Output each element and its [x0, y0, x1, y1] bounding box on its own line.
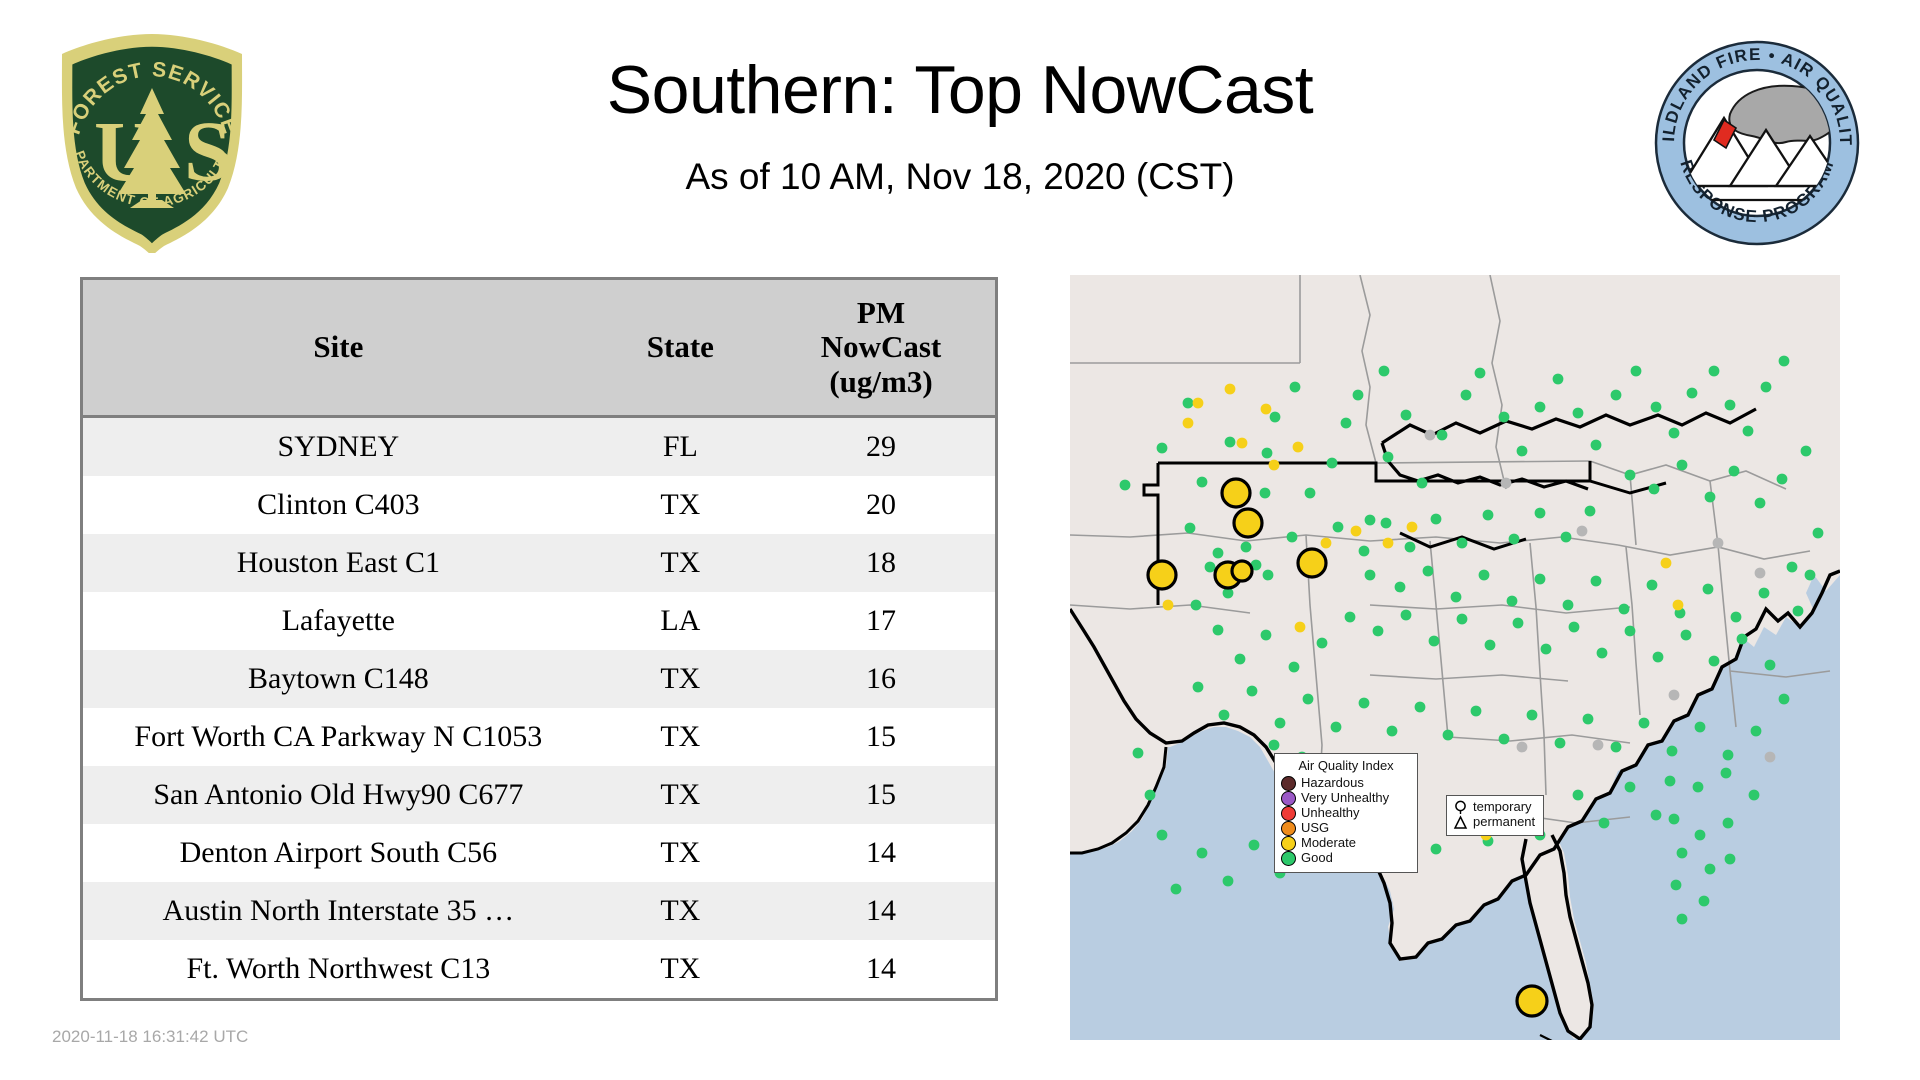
- monitor-dot-good[interactable]: [1437, 430, 1448, 441]
- pm-value-cell: 15: [767, 708, 995, 766]
- state-cell: TX: [594, 476, 767, 534]
- page-subtitle: As of 10 AM, Nov 18, 2020 (CST): [300, 156, 1620, 198]
- monitor-dot-good[interactable]: [1303, 694, 1314, 705]
- aqi-legend-item: Unhealthy: [1281, 806, 1411, 821]
- monitor-dot-good[interactable]: [1651, 402, 1662, 413]
- pm-value-cell: 20: [767, 476, 995, 534]
- table-body: SYDNEYFL29Clinton C403TX20Houston East C…: [83, 417, 995, 999]
- monitor-dot-moderate[interactable]: [1295, 622, 1306, 633]
- site-type-permanent: permanent: [1453, 815, 1535, 830]
- aqi-color-swatch-icon: [1281, 821, 1296, 836]
- aqi-color-swatch-icon: [1281, 836, 1296, 851]
- monitor-dot-good[interactable]: [1705, 864, 1716, 875]
- monitor-dot-good[interactable]: [1765, 660, 1776, 671]
- monitor-dot-good[interactable]: [1471, 706, 1482, 717]
- monitor-dot-good[interactable]: [1269, 740, 1280, 751]
- page-title: Southern: Top NowCast: [300, 55, 1620, 126]
- monitor-dot-moderate[interactable]: [1261, 404, 1272, 415]
- site-type-legend: temporary permanent: [1446, 795, 1544, 836]
- aqi-legend-label: USG: [1301, 821, 1329, 836]
- monitor-dot-good[interactable]: [1625, 626, 1636, 637]
- monitor-dot-good[interactable]: [1535, 402, 1546, 413]
- monitor-dot-good[interactable]: [1509, 534, 1520, 545]
- monitor-dot-good[interactable]: [1729, 466, 1740, 477]
- monitor-dot-good[interactable]: [1262, 448, 1273, 459]
- monitor-dot-good[interactable]: [1649, 484, 1660, 495]
- monitor-dot-offline[interactable]: [1593, 740, 1604, 751]
- monitor-dot-good[interactable]: [1461, 390, 1472, 401]
- monitor-dot-highlighted[interactable]: [1232, 561, 1252, 581]
- table-row: San Antonio Old Hwy90 C677TX15: [83, 766, 995, 824]
- monitor-dot-good[interactable]: [1787, 562, 1798, 573]
- usfs-letter-s: S: [184, 103, 232, 199]
- state-cell: TX: [594, 766, 767, 824]
- monitor-dot-good[interactable]: [1483, 510, 1494, 521]
- monitor-dot-good[interactable]: [1157, 443, 1168, 454]
- monitor-dot-good[interactable]: [1213, 548, 1224, 559]
- monitor-dot-good[interactable]: [1709, 656, 1720, 667]
- permanent-triangle-icon: [1453, 815, 1468, 830]
- monitor-dot-good[interactable]: [1535, 574, 1546, 585]
- monitor-dot-good[interactable]: [1263, 570, 1274, 581]
- site-cell: Houston East C1: [83, 534, 594, 592]
- table-row: Ft. Worth Northwest C13TX14: [83, 940, 995, 998]
- monitor-dot-good[interactable]: [1625, 470, 1636, 481]
- monitor-dot-good[interactable]: [1573, 790, 1584, 801]
- monitor-dot-good[interactable]: [1423, 566, 1434, 577]
- monitor-dot-highlighted[interactable]: [1298, 549, 1326, 577]
- monitor-dot-good[interactable]: [1749, 790, 1760, 801]
- site-cell: Clinton C403: [83, 476, 594, 534]
- monitor-dot-good[interactable]: [1695, 830, 1706, 841]
- aqi-legend-label: Moderate: [1301, 836, 1356, 851]
- monitor-dot-offline[interactable]: [1517, 742, 1528, 753]
- monitor-dot-good[interactable]: [1653, 652, 1664, 663]
- monitor-dot-moderate[interactable]: [1661, 558, 1672, 569]
- monitor-dot-good[interactable]: [1457, 538, 1468, 549]
- site-type-permanent-label: permanent: [1473, 815, 1535, 829]
- site-cell: SYDNEY: [83, 417, 594, 477]
- monitor-dot-moderate[interactable]: [1237, 438, 1248, 449]
- aqi-legend-item: Moderate: [1281, 836, 1411, 851]
- monitor-dot-good[interactable]: [1751, 726, 1762, 737]
- monitor-dot-moderate[interactable]: [1383, 538, 1394, 549]
- monitor-dot-good[interactable]: [1235, 654, 1246, 665]
- monitor-dot-good[interactable]: [1721, 768, 1732, 779]
- monitor-dot-good[interactable]: [1563, 600, 1574, 611]
- table-row: LafayetteLA17: [83, 592, 995, 650]
- monitor-dot-good[interactable]: [1507, 596, 1518, 607]
- monitor-dot-highlighted[interactable]: [1517, 986, 1547, 1016]
- monitor-dot-good[interactable]: [1401, 610, 1412, 621]
- aqi-legend-label: Very Unhealthy: [1301, 791, 1389, 806]
- table-row: SYDNEYFL29: [83, 417, 995, 477]
- monitor-dot-good[interactable]: [1677, 914, 1688, 925]
- monitor-dot-good[interactable]: [1401, 410, 1412, 421]
- table-row: Houston East C1TX18: [83, 534, 995, 592]
- monitor-dot-good[interactable]: [1723, 818, 1734, 829]
- title-block: Southern: Top NowCast As of 10 AM, Nov 1…: [300, 55, 1620, 198]
- monitor-dot-good[interactable]: [1793, 606, 1804, 617]
- state-cell: LA: [594, 592, 767, 650]
- monitor-dot-good[interactable]: [1611, 390, 1622, 401]
- site-type-temporary: temporary: [1453, 800, 1535, 815]
- site-cell: Austin North Interstate 35 …: [83, 882, 594, 940]
- monitor-dot-good[interactable]: [1341, 418, 1352, 429]
- state-cell: TX: [594, 708, 767, 766]
- monitor-dot-good[interactable]: [1681, 630, 1692, 641]
- wfaqrp-logo: WILDLAND FIRE • AIR QUALITY RESPONSE PRO…: [1652, 38, 1862, 248]
- state-cell: TX: [594, 824, 767, 882]
- slide-root: FOREST SERVICE DEPARTMENT OF AGRICULTURE…: [0, 0, 1920, 1080]
- monitor-dot-good[interactable]: [1499, 412, 1510, 423]
- pm-value-cell: 16: [767, 650, 995, 708]
- monitor-dot-good[interactable]: [1249, 840, 1260, 851]
- monitor-dot-moderate[interactable]: [1225, 384, 1236, 395]
- monitor-dot-good[interactable]: [1395, 582, 1406, 593]
- monitor-dot-good[interactable]: [1225, 437, 1236, 448]
- air-quality-map[interactable]: Air Quality Index HazardousVery Unhealth…: [1070, 275, 1840, 1040]
- monitor-dot-good[interactable]: [1591, 440, 1602, 451]
- monitor-dot-good[interactable]: [1485, 640, 1496, 651]
- pm-value-cell: 17: [767, 592, 995, 650]
- monitor-dot-moderate[interactable]: [1269, 460, 1280, 471]
- monitor-dot-offline[interactable]: [1669, 690, 1680, 701]
- monitor-dot-good[interactable]: [1583, 714, 1594, 725]
- site-cell: Ft. Worth Northwest C13: [83, 940, 594, 998]
- site-cell: Lafayette: [83, 592, 594, 650]
- column-header-pm-nowcast: PM NowCast (ug/m3): [767, 280, 995, 417]
- monitor-dot-good[interactable]: [1535, 508, 1546, 519]
- monitor-dot-good[interactable]: [1677, 460, 1688, 471]
- monitor-dot-good[interactable]: [1157, 830, 1168, 841]
- monitor-dot-good[interactable]: [1353, 390, 1364, 401]
- monitor-dot-good[interactable]: [1219, 710, 1230, 721]
- monitor-dot-offline[interactable]: [1425, 430, 1436, 441]
- monitor-dot-moderate[interactable]: [1163, 600, 1174, 611]
- monitor-dot-good[interactable]: [1667, 746, 1678, 757]
- pm-value-cell: 14: [767, 824, 995, 882]
- site-cell: Baytown C148: [83, 650, 594, 708]
- monitor-dot-good[interactable]: [1611, 742, 1622, 753]
- monitor-dot-good[interactable]: [1725, 400, 1736, 411]
- monitor-dot-good[interactable]: [1761, 382, 1772, 393]
- monitor-dot-good[interactable]: [1561, 532, 1572, 543]
- monitor-dot-good[interactable]: [1365, 515, 1376, 526]
- pm-header-line-2: NowCast: [771, 330, 991, 364]
- state-cell: TX: [594, 534, 767, 592]
- pm-value-cell: 15: [767, 766, 995, 824]
- monitor-dot-good[interactable]: [1415, 702, 1426, 713]
- monitor-dot-moderate[interactable]: [1351, 526, 1362, 537]
- monitor-dot-offline[interactable]: [1501, 478, 1512, 489]
- monitor-dot-good[interactable]: [1737, 634, 1748, 645]
- monitor-dot-good[interactable]: [1359, 546, 1370, 557]
- monitor-dot-good[interactable]: [1651, 810, 1662, 821]
- monitor-dot-good[interactable]: [1687, 388, 1698, 399]
- monitor-dot-good[interactable]: [1693, 782, 1704, 793]
- monitor-dot-good[interactable]: [1317, 638, 1328, 649]
- monitor-dot-good[interactable]: [1779, 694, 1790, 705]
- site-cell: San Antonio Old Hwy90 C677: [83, 766, 594, 824]
- monitor-dot-good[interactable]: [1379, 366, 1390, 377]
- column-header-state: State: [594, 280, 767, 417]
- aqi-legend-label: Hazardous: [1301, 776, 1364, 791]
- monitor-dot-highlighted[interactable]: [1148, 561, 1176, 589]
- monitor-dot-good[interactable]: [1429, 636, 1440, 647]
- monitor-dot-highlighted[interactable]: [1234, 509, 1262, 537]
- usfs-forest-service-logo: FOREST SERVICE DEPARTMENT OF AGRICULTURE…: [52, 28, 252, 253]
- monitor-dot-moderate[interactable]: [1183, 418, 1194, 429]
- monitor-dot-good[interactable]: [1805, 570, 1816, 581]
- monitor-dot-good[interactable]: [1431, 844, 1442, 855]
- monitor-dot-good[interactable]: [1479, 570, 1490, 581]
- monitor-dot-good[interactable]: [1703, 584, 1714, 595]
- state-cell: TX: [594, 882, 767, 940]
- table-header-row: Site State PM NowCast (ug/m3): [83, 280, 995, 417]
- monitor-dot-good[interactable]: [1247, 686, 1258, 697]
- table-row: Clinton C403TX20: [83, 476, 995, 534]
- aqi-legend-item: USG: [1281, 821, 1411, 836]
- monitor-dot-offline[interactable]: [1577, 526, 1588, 537]
- site-type-temporary-label: temporary: [1473, 800, 1532, 814]
- aqi-legend-title: Air Quality Index: [1281, 758, 1411, 773]
- pm-header-line-1: PM: [771, 296, 991, 330]
- monitor-dot-offline[interactable]: [1755, 568, 1766, 579]
- monitor-dot-good[interactable]: [1197, 848, 1208, 859]
- monitor-dot-good[interactable]: [1723, 750, 1734, 761]
- monitor-dot-good[interactable]: [1270, 412, 1281, 423]
- pm-value-cell: 18: [767, 534, 995, 592]
- monitor-dot-good[interactable]: [1709, 366, 1720, 377]
- monitor-dot-good[interactable]: [1801, 446, 1812, 457]
- monitor-dot-good[interactable]: [1405, 542, 1416, 553]
- monitor-dot-good[interactable]: [1585, 506, 1596, 517]
- aqi-legend-rows: HazardousVery UnhealthyUnhealthyUSGModer…: [1281, 776, 1411, 866]
- monitor-dot-good[interactable]: [1431, 514, 1442, 525]
- monitor-dot-good[interactable]: [1647, 580, 1658, 591]
- monitor-dot-good[interactable]: [1333, 522, 1344, 533]
- monitor-dot-offline[interactable]: [1765, 752, 1776, 763]
- aqi-color-swatch-icon: [1281, 776, 1296, 791]
- monitor-dot-good[interactable]: [1120, 480, 1131, 491]
- monitor-dot-good[interactable]: [1573, 408, 1584, 419]
- monitor-dot-good[interactable]: [1443, 730, 1454, 741]
- monitor-dot-good[interactable]: [1527, 710, 1538, 721]
- monitor-dot-good[interactable]: [1475, 368, 1486, 379]
- state-cell: TX: [594, 940, 767, 998]
- monitor-dot-good[interactable]: [1365, 570, 1376, 581]
- aqi-color-swatch-icon: [1281, 791, 1296, 806]
- monitor-dot-good[interactable]: [1185, 523, 1196, 534]
- monitor-dot-good[interactable]: [1331, 722, 1342, 733]
- monitor-dot-good[interactable]: [1695, 722, 1706, 733]
- monitor-dot-good[interactable]: [1387, 726, 1398, 737]
- monitor-dot-good[interactable]: [1777, 474, 1788, 485]
- pm-value-cell: 14: [767, 882, 995, 940]
- table-row: Austin North Interstate 35 …TX14: [83, 882, 995, 940]
- temporary-circle-icon: [1453, 800, 1468, 815]
- monitor-dot-good[interactable]: [1499, 734, 1510, 745]
- monitor-dot-offline[interactable]: [1713, 538, 1724, 549]
- monitor-dot-good[interactable]: [1417, 478, 1428, 489]
- monitor-dot-good[interactable]: [1731, 612, 1742, 623]
- generation-timestamp: 2020-11-18 16:31:42 UTC: [52, 1027, 248, 1047]
- monitor-dot-good[interactable]: [1677, 848, 1688, 859]
- monitor-dot-good[interactable]: [1451, 592, 1462, 603]
- monitor-dot-good[interactable]: [1759, 588, 1770, 599]
- monitor-dot-good[interactable]: [1223, 876, 1234, 887]
- monitor-dot-good[interactable]: [1669, 428, 1680, 439]
- monitor-dot-good[interactable]: [1553, 374, 1564, 385]
- pm-value-cell: 14: [767, 940, 995, 998]
- monitor-dot-good[interactable]: [1705, 492, 1716, 503]
- monitor-dot-good[interactable]: [1205, 562, 1216, 573]
- monitor-dot-good[interactable]: [1813, 528, 1824, 539]
- table-row: Denton Airport South C56TX14: [83, 824, 995, 882]
- monitor-dot-good[interactable]: [1639, 718, 1650, 729]
- monitor-dot-good[interactable]: [1599, 818, 1610, 829]
- aqi-legend-label: Unhealthy: [1301, 806, 1360, 821]
- monitor-dot-moderate[interactable]: [1193, 398, 1204, 409]
- monitor-dot-good[interactable]: [1725, 854, 1736, 865]
- pm-value-cell: 29: [767, 417, 995, 477]
- monitor-dot-moderate[interactable]: [1673, 600, 1684, 611]
- monitor-dot-good[interactable]: [1625, 782, 1636, 793]
- aqi-legend-item: Hazardous: [1281, 776, 1411, 791]
- monitor-dot-moderate[interactable]: [1407, 522, 1418, 533]
- aqi-legend-item: Good: [1281, 851, 1411, 866]
- monitor-dot-good[interactable]: [1133, 748, 1144, 759]
- aqi-legend-item: Very Unhealthy: [1281, 791, 1411, 806]
- site-cell: Fort Worth CA Parkway N C1053: [83, 708, 594, 766]
- monitor-dot-good[interactable]: [1671, 880, 1682, 891]
- monitor-dot-good[interactable]: [1631, 366, 1642, 377]
- monitor-dot-good[interactable]: [1779, 356, 1790, 367]
- monitor-dot-good[interactable]: [1145, 790, 1156, 801]
- monitor-dot-good[interactable]: [1513, 618, 1524, 629]
- state-cell: FL: [594, 417, 767, 477]
- monitor-dot-good[interactable]: [1569, 622, 1580, 633]
- monitor-dot-good[interactable]: [1345, 612, 1356, 623]
- monitor-dot-good[interactable]: [1541, 644, 1552, 655]
- aqi-legend: Air Quality Index HazardousVery Unhealth…: [1274, 753, 1418, 873]
- monitor-dot-good[interactable]: [1193, 682, 1204, 693]
- monitor-dot-good[interactable]: [1290, 382, 1301, 393]
- monitor-dot-good[interactable]: [1305, 488, 1316, 499]
- table-row: Baytown C148TX16: [83, 650, 995, 708]
- monitor-dot-good[interactable]: [1373, 626, 1384, 637]
- aqi-color-swatch-icon: [1281, 851, 1296, 866]
- aqi-color-swatch-icon: [1281, 806, 1296, 821]
- monitor-dot-good[interactable]: [1665, 776, 1676, 787]
- monitor-dot-moderate[interactable]: [1293, 442, 1304, 453]
- monitor-dot-good[interactable]: [1743, 426, 1754, 437]
- aqi-legend-label: Good: [1301, 851, 1333, 866]
- state-cell: TX: [594, 650, 767, 708]
- monitor-dot-good[interactable]: [1171, 884, 1182, 895]
- map-canvas[interactable]: [1070, 275, 1840, 1040]
- monitor-dot-good[interactable]: [1213, 625, 1224, 636]
- top-nowcast-table-container: Site State PM NowCast (ug/m3) SYDNEYFL29…: [80, 277, 998, 1001]
- monitor-dot-good[interactable]: [1591, 576, 1602, 587]
- monitor-dot-good[interactable]: [1669, 814, 1680, 825]
- monitor-dot-good[interactable]: [1260, 488, 1271, 499]
- site-cell: Denton Airport South C56: [83, 824, 594, 882]
- monitor-dot-highlighted[interactable]: [1222, 479, 1250, 507]
- monitor-dot-good[interactable]: [1597, 648, 1608, 659]
- monitor-dot-good[interactable]: [1287, 532, 1298, 543]
- monitor-dot-good[interactable]: [1619, 604, 1630, 615]
- monitor-dot-good[interactable]: [1327, 458, 1338, 469]
- monitor-dot-good[interactable]: [1183, 398, 1194, 409]
- top-nowcast-table: Site State PM NowCast (ug/m3) SYDNEYFL29…: [83, 280, 995, 998]
- monitor-dot-good[interactable]: [1517, 446, 1528, 457]
- monitor-dot-good[interactable]: [1275, 718, 1286, 729]
- monitor-dot-good[interactable]: [1555, 738, 1566, 749]
- column-header-site: Site: [83, 280, 594, 417]
- monitor-dot-good[interactable]: [1191, 600, 1202, 611]
- monitor-dot-good[interactable]: [1197, 477, 1208, 488]
- monitor-dot-good[interactable]: [1261, 630, 1272, 641]
- table-header: Site State PM NowCast (ug/m3): [83, 280, 995, 417]
- pm-header-line-3: (ug/m3): [771, 365, 991, 399]
- monitor-dot-good[interactable]: [1699, 896, 1710, 907]
- monitor-dot-good[interactable]: [1755, 498, 1766, 509]
- monitor-dot-good[interactable]: [1381, 518, 1392, 529]
- monitor-dot-good[interactable]: [1241, 542, 1252, 553]
- monitor-dot-good[interactable]: [1289, 662, 1300, 673]
- monitor-dot-good[interactable]: [1383, 452, 1394, 463]
- monitor-dot-moderate[interactable]: [1321, 538, 1332, 549]
- table-row: Fort Worth CA Parkway N C1053TX15: [83, 708, 995, 766]
- monitor-dot-good[interactable]: [1359, 698, 1370, 709]
- monitor-dot-good[interactable]: [1457, 614, 1468, 625]
